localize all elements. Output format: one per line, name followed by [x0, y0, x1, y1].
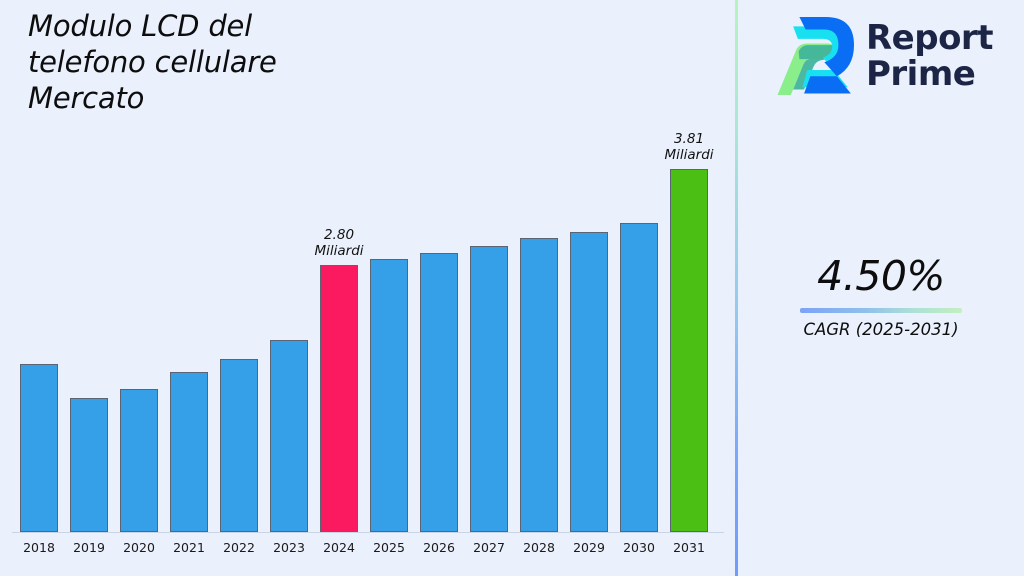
brand-name: Report Prime [866, 20, 993, 92]
brand-logo: Report Prime [776, 10, 1016, 102]
cagr-block: 4.50% CAGR (2025-2031) [738, 252, 1024, 341]
bar-rect-2027 [470, 246, 508, 532]
bar-rect-2028 [520, 238, 558, 532]
bar-rect-2030 [620, 223, 658, 532]
cagr-caption: CAGR (2025-2031) [738, 319, 1024, 341]
bar-rect-2031 [670, 169, 708, 532]
x-tick-label-2019: 2019 [63, 540, 115, 555]
right-panel: Report Prime 4.50% CAGR (2025-2031) [738, 0, 1024, 576]
bar-rect-2021 [170, 372, 208, 532]
x-tick-label-2026: 2026 [413, 540, 465, 555]
x-tick-label-2025: 2025 [363, 540, 415, 555]
bar-rect-2018 [20, 364, 58, 532]
x-tick-label-2021: 2021 [163, 540, 215, 555]
bar-rect-2022 [220, 359, 258, 532]
cagr-value: 4.50% [738, 252, 1024, 300]
bar-rect-2020 [120, 389, 158, 532]
x-tick-label-2020: 2020 [113, 540, 165, 555]
x-tick-label-2027: 2027 [463, 540, 515, 555]
bar-rect-2023 [270, 340, 308, 532]
bar-value-label-2024: 2.80 Miliardi [297, 227, 381, 259]
slide-root: Modulo LCD del telefono cellulare Mercat… [0, 0, 1024, 576]
chart-panel: Modulo LCD del telefono cellulare Mercat… [0, 0, 735, 576]
bar-rect-2019 [70, 398, 108, 532]
bar-value-label-2031: 3.81 Miliardi [647, 131, 731, 163]
x-tick-label-2030: 2030 [613, 540, 665, 555]
report-prime-logo-icon [776, 15, 854, 97]
x-tick-label-2023: 2023 [263, 540, 315, 555]
x-tick-label-2018: 2018 [13, 540, 65, 555]
bar-rect-2029 [570, 232, 608, 532]
x-tick-label-2022: 2022 [213, 540, 265, 555]
bar-rect-2024 [320, 265, 358, 532]
x-tick-label-2029: 2029 [563, 540, 615, 555]
x-tick-label-2028: 2028 [513, 540, 565, 555]
x-tick-label-2024: 2024 [313, 540, 365, 555]
bar-chart-plot-area: 2018201920202021202220232024202520262027… [0, 0, 735, 576]
cagr-divider-rule [800, 308, 962, 313]
x-axis-line [12, 532, 724, 533]
x-tick-label-2031: 2031 [663, 540, 715, 555]
bar-rect-2026 [420, 253, 458, 532]
bar-rect-2025 [370, 259, 408, 532]
